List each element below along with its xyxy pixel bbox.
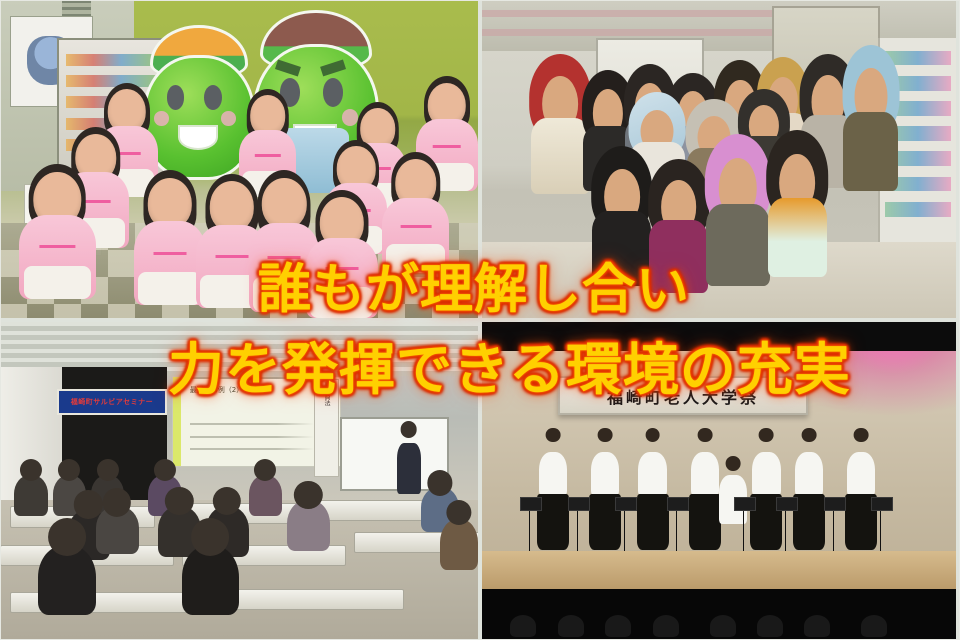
slide-accent-bar xyxy=(173,377,181,466)
performer xyxy=(638,452,666,547)
person-pink-apron xyxy=(382,159,449,273)
photo-top-right-scene xyxy=(482,0,956,318)
mascot-orange-hat-icon xyxy=(143,25,248,190)
attendee xyxy=(38,545,95,615)
person-hijab-black xyxy=(591,146,653,286)
ceiling-pipe xyxy=(482,29,776,36)
photo-top-left: 受付 xyxy=(0,0,478,318)
proscenium-top xyxy=(482,322,956,351)
photo-bottom-right-scene: 福崎町老人大学祭 xyxy=(482,322,956,640)
photo-top-right xyxy=(482,0,956,318)
vertical-poster: 悪質商法 xyxy=(314,379,340,476)
person-pink-apron xyxy=(19,172,95,299)
attendee xyxy=(287,500,330,551)
person-hijab-blue xyxy=(842,45,899,191)
photo-bottom-right: 福崎町老人大学祭 xyxy=(482,322,956,640)
performer xyxy=(795,452,823,547)
person-pink-apron xyxy=(306,197,378,318)
desk xyxy=(220,589,404,610)
photo-bottom-left-scene: 福崎町サルビアセミナー 最近の事例（2） 悪質商法 xyxy=(0,322,478,640)
seminar-banner-label: 福崎町サルビアセミナー xyxy=(71,397,153,407)
stage-banner: 福崎町老人大学祭 xyxy=(558,376,808,415)
slide-title: 最近の事例（2） xyxy=(190,385,243,395)
stage-banner-label: 福崎町老人大学祭 xyxy=(607,384,759,408)
person-hijab-pink xyxy=(705,134,771,287)
presenter xyxy=(397,443,421,494)
person-pink-apron xyxy=(134,178,206,305)
attendee xyxy=(182,545,239,615)
photo-bottom-left: 福崎町サルビアセミナー 最近の事例（2） 悪質商法 xyxy=(0,322,478,640)
audience-area xyxy=(482,589,956,640)
audience-silhouettes xyxy=(482,589,956,640)
performer xyxy=(539,452,567,547)
stage-floor xyxy=(482,551,956,589)
attendee xyxy=(14,475,47,516)
attendee xyxy=(440,519,478,570)
performer xyxy=(691,452,719,547)
seminar-banner: 福崎町サルビアセミナー xyxy=(57,389,166,415)
person-orange-top xyxy=(766,130,828,276)
photo-top-left-scene: 受付 xyxy=(0,0,478,318)
attendee xyxy=(96,506,139,554)
collage-canvas: 受付 xyxy=(0,0,960,640)
person-magenta-jacket xyxy=(648,159,710,293)
attendee xyxy=(249,475,282,516)
